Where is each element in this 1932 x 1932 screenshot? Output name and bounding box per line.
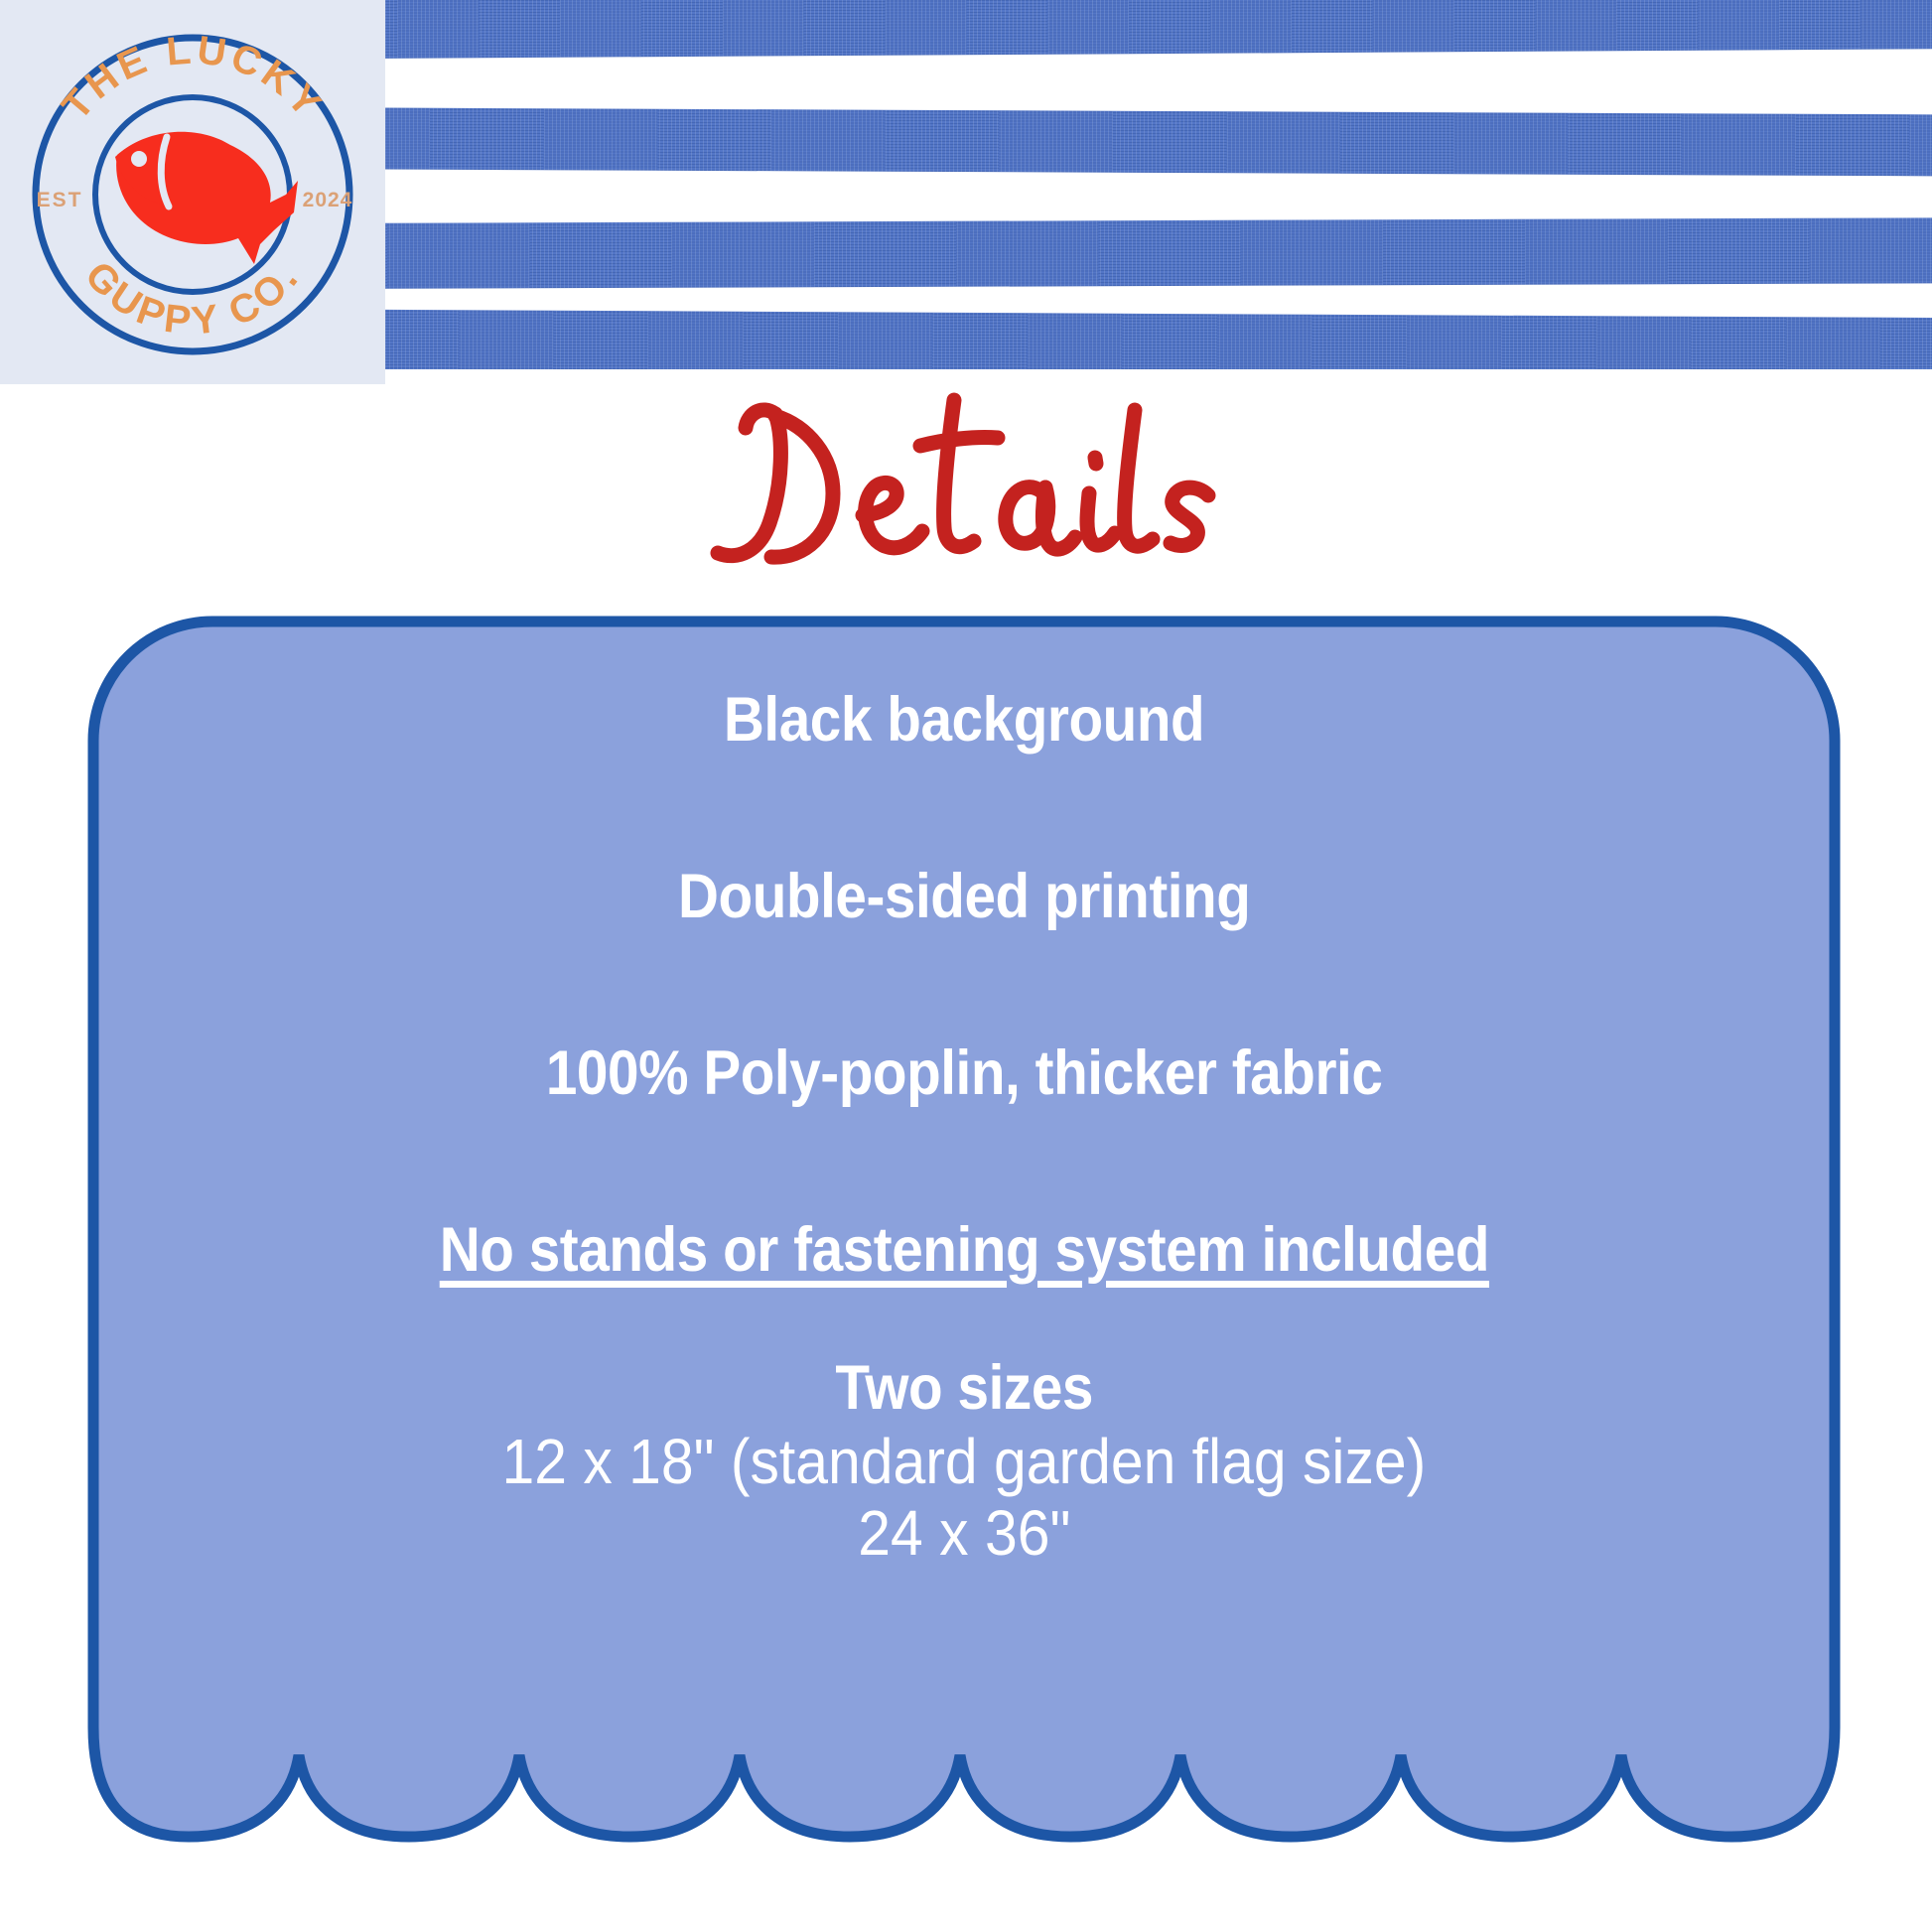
- logo-year-label: 2024: [303, 189, 353, 211]
- details-card: Black background Double-sided printing 1…: [87, 616, 1841, 1896]
- fabric-stripe: [385, 217, 1932, 289]
- size-option: 12 x 18" (standard garden flag size): [502, 1427, 1427, 1496]
- details-script-title: [688, 384, 1244, 603]
- fabric-stripe: [385, 107, 1932, 176]
- page-title: [0, 379, 1932, 608]
- logo-top-text: THE LUCKY: [54, 28, 332, 128]
- size-option: 24 x 36": [858, 1498, 1070, 1568]
- fish-icon: [115, 132, 298, 264]
- striped-fabric-banner: [385, 0, 1932, 369]
- fabric-stripe: [385, 0, 1932, 59]
- feature-line-underlined: No stands or fastening system included: [439, 1217, 1488, 1283]
- brand-logo: THE LUCKY GUPPY CO. EST 2024: [0, 0, 385, 384]
- sizes-heading: Two sizes: [835, 1355, 1093, 1421]
- feature-line: Double-sided printing: [678, 864, 1250, 929]
- feature-line: 100% Poly-poplin, thicker fabric: [546, 1040, 1383, 1106]
- brand-logo-tile: THE LUCKY GUPPY CO. EST 2024: [0, 0, 385, 384]
- feature-line: Black background: [724, 687, 1204, 753]
- logo-est-label: EST: [37, 189, 83, 211]
- card-content: Black background Double-sided printing 1…: [87, 616, 1841, 1896]
- fabric-stripe: [385, 310, 1932, 369]
